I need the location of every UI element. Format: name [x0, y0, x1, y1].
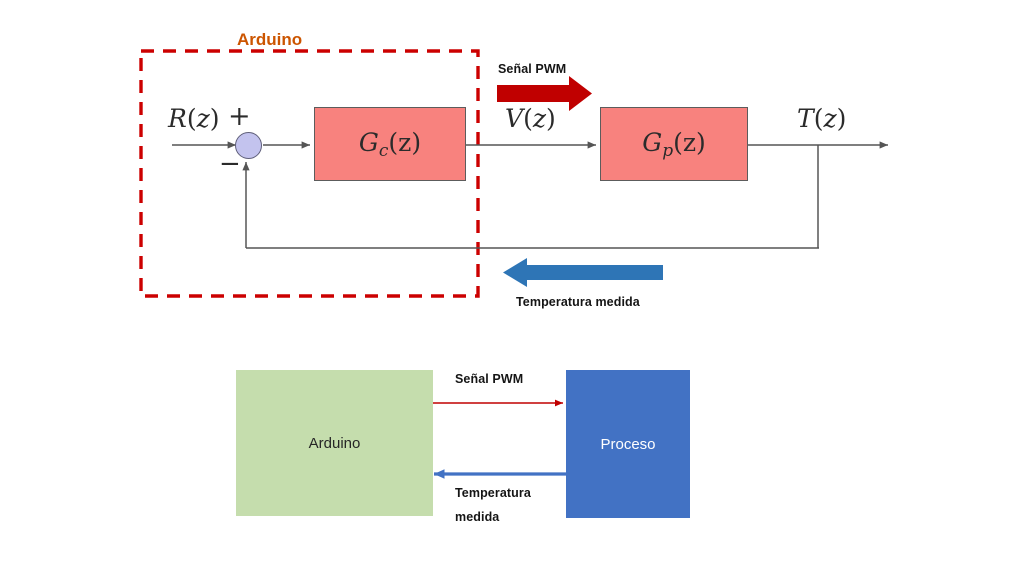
reference-signal-label: R(z) [168, 104, 220, 133]
controller-block[interactable]: Gc(z) [314, 107, 466, 181]
plant-block[interactable]: Gp(z) [600, 107, 748, 181]
measured-temperature-block-arrow [503, 258, 663, 287]
arduino-block-label: Arduino [309, 435, 361, 452]
arduino-block-label-wrap: Arduino [236, 370, 433, 516]
top-pwm-annotation-label: Señal PWM [498, 62, 566, 76]
plant-block-label: Gp(z) [642, 128, 706, 161]
plant-output-label: T(z) [797, 104, 846, 133]
bottom-measured-temperature-annotation-line1: Temperatura [455, 486, 531, 500]
controller-block-label-wrap: Gc(z) [315, 108, 465, 180]
summing-junction-minus-sign: − [219, 149, 241, 179]
bottom-pwm-annotation-label: Señal PWM [455, 372, 523, 386]
arduino-block[interactable]: Arduino [236, 370, 433, 516]
summing-junction-plus-sign: + [228, 101, 251, 132]
proceso-block-label-wrap: Proceso [566, 370, 690, 518]
proceso-block-label: Proceso [600, 436, 655, 453]
plant-block-label-wrap: Gp(z) [601, 108, 747, 180]
bottom-measured-temperature-annotation-line2: medida [455, 510, 499, 524]
diagram-canvas: Gc(z) Gp(z) + − R(z) V(z) T(z) Arduino S… [0, 0, 1024, 576]
proceso-block[interactable]: Proceso [566, 370, 690, 518]
arduino-boundary-title: Arduino [237, 30, 302, 50]
control-signal-label: V(z) [505, 104, 556, 133]
top-measured-temperature-annotation-label: Temperatura medida [516, 295, 640, 309]
controller-block-label: Gc(z) [359, 128, 421, 161]
